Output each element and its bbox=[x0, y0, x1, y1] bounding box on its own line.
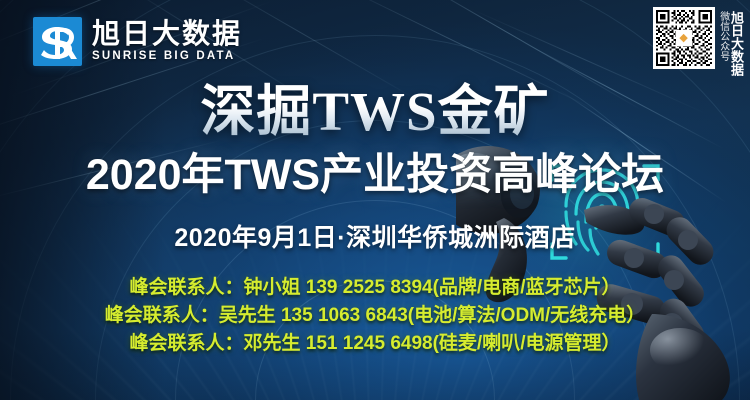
page-title: 深掘TWS金矿 bbox=[200, 82, 549, 141]
contact-row: 峰会联系人：吴先生 135 1063 6843(电池/算法/ODM/无线充电） bbox=[105, 305, 646, 327]
qr-label-brand: 旭日大数据 bbox=[730, 11, 743, 76]
qr-center-logo-icon: ◆ bbox=[676, 30, 692, 46]
brand-name-en: SUNRISE BIG DATA bbox=[92, 50, 242, 64]
page-subtitle: 2020年TWS产业投资高峰论坛 bbox=[86, 152, 664, 199]
contact-row: 峰会联系人：钟小姐 139 2525 8394(品牌/电商/蓝牙芯片） bbox=[130, 277, 621, 299]
qr-labels: 微信公众号 旭日大数据 bbox=[718, 7, 743, 76]
contact-list: 峰会联系人：钟小姐 139 2525 8394(品牌/电商/蓝牙芯片） 峰会联系… bbox=[0, 277, 750, 355]
date-venue-text: 2020年9月1日·深圳华侨城洲际酒店 bbox=[174, 218, 575, 254]
brand-wordmark: 旭日大数据 SUNRISE BIG DATA bbox=[92, 19, 242, 63]
contact-row: 峰会联系人：邓先生 151 1245 6498(硅麦/喇叭/电源管理） bbox=[130, 333, 621, 355]
promo-poster: 旭日大数据 SUNRISE BIG DATA bbox=[0, 0, 750, 400]
main-title-block: 深掘TWS金矿 bbox=[0, 82, 750, 141]
qr-label-wechat: 微信公众号 bbox=[718, 11, 728, 76]
sr-monogram-logo-icon bbox=[33, 17, 82, 66]
qr-code-icon[interactable]: ◆ bbox=[653, 7, 715, 69]
date-venue-block: 2020年9月1日·深圳华侨城洲际酒店 bbox=[0, 218, 750, 254]
wechat-qr-block[interactable]: ◆ 微信公众号 旭日大数据 bbox=[653, 7, 743, 76]
brand-name-cn: 旭日大数据 bbox=[92, 19, 242, 48]
subtitle-block: 2020年TWS产业投资高峰论坛 bbox=[0, 152, 750, 199]
brand-logo: 旭日大数据 SUNRISE BIG DATA bbox=[33, 17, 242, 66]
